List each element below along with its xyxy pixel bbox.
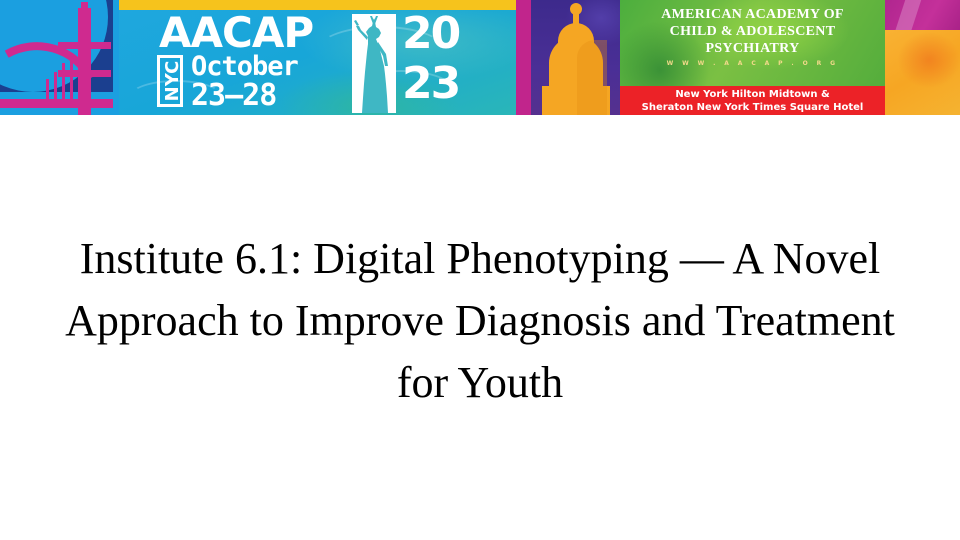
logo-line-2: CHILD & ADOLESCENT [620, 23, 885, 40]
venue-text: New York Hilton Midtown & Sheraton New Y… [620, 88, 885, 114]
nyc-badge-box: NYC [157, 55, 183, 107]
capitol-shading [577, 40, 607, 115]
bridge-crossbeam [58, 42, 111, 49]
conference-banner-image: AACAP NYC October 23–28 20 [0, 0, 960, 115]
banner-panel-conference-info: AACAP NYC October 23–28 20 [119, 0, 516, 115]
slide-title: Institute 6.1: Digital Phenotyping — A N… [48, 228, 912, 414]
venue-line-1: New York Hilton Midtown & [620, 88, 885, 101]
nyc-label: NYC [163, 55, 183, 107]
aacap-website-url: W W W . A A C A P . O R G [620, 60, 885, 67]
year-first-half: 20 [402, 8, 459, 59]
venue-line-2: Sheraton New York Times Square Hotel [620, 101, 885, 114]
banner-panel-aacap-logo: AMERICAN ACADEMY OF CHILD & ADOLESCENT P… [620, 0, 885, 115]
banner-panel-capitol-dome [531, 0, 620, 115]
year-second-half: 23 [402, 58, 459, 109]
orange-block [885, 30, 960, 115]
conference-month: October [191, 52, 298, 81]
bridge-suspender [46, 79, 49, 99]
conference-year: 20 23 [402, 9, 459, 109]
aacap-logo-text: AMERICAN ACADEMY OF CHILD & ADOLESCENT P… [620, 6, 885, 67]
bridge-crossbeam [58, 70, 111, 77]
logo-line-3: PSYCHIATRY [620, 40, 885, 57]
magenta-block [885, 0, 960, 30]
bridge-tower-finial [81, 2, 88, 12]
bridge-suspender [62, 63, 65, 99]
slide-canvas: AACAP NYC October 23–28 20 [0, 0, 960, 540]
conference-dates: 23–28 [191, 80, 276, 112]
statue-of-liberty-card [352, 14, 396, 113]
bridge-deck [0, 99, 113, 108]
banner-panel-color-blocks [885, 0, 960, 115]
bridge-suspender [54, 72, 57, 99]
logo-line-1: AMERICAN ACADEMY OF [620, 6, 885, 23]
venue-band: New York Hilton Midtown & Sheraton New Y… [620, 86, 885, 115]
banner-panel-golden-gate-bridge [0, 0, 113, 115]
aacap-wordmark: AACAP [159, 12, 313, 54]
magenta-streak-decor [895, 0, 922, 30]
banner-divider-magenta [516, 0, 531, 115]
statue-of-liberty-icon [352, 14, 396, 113]
